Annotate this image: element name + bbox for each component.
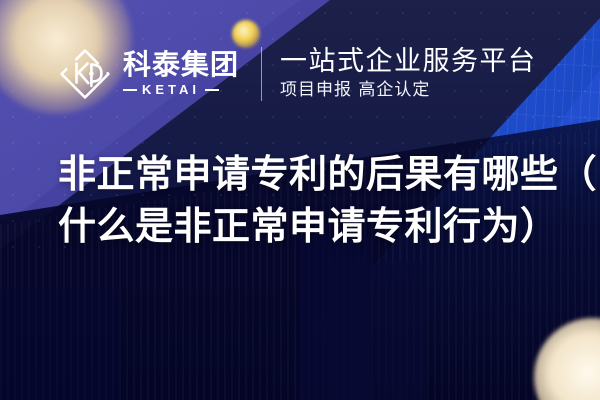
brand-lockup: 科泰集团 KETAI	[58, 47, 239, 101]
page-title-line-1: 非正常申请专利的后果有哪些（	[58, 148, 568, 200]
brand-name-cn: 科泰集团	[123, 51, 239, 79]
brand-dash-right-icon	[205, 89, 219, 92]
tagline-sub: 项目申报 高企认定	[280, 81, 537, 100]
brand-text-block: 科泰集团 KETAI	[123, 51, 239, 98]
skyline-building	[330, 262, 426, 400]
ketai-diamond-monogram-logo-icon	[58, 47, 112, 101]
header-vertical-divider	[261, 47, 262, 101]
tagline-main: 一站式企业服务平台	[280, 48, 537, 76]
page-title-line-2: 什么是非正常申请专利行为）	[58, 200, 568, 252]
brand-name-en: KETAI	[142, 82, 200, 97]
banner-image: 科泰集团 KETAI 一站式企业服务平台 项目申报 高企认定 非正常申请专利的后…	[0, 0, 600, 400]
tagline-block: 一站式企业服务平台 项目申报 高企认定	[280, 48, 537, 99]
skyline-building	[0, 290, 120, 400]
brand-dash-left-icon	[123, 89, 137, 92]
banner-header: 科泰集团 KETAI 一站式企业服务平台 项目申报 高企认定	[0, 38, 600, 110]
brand-name-en-row: KETAI	[123, 83, 239, 98]
page-title: 非正常申请专利的后果有哪些（ 什么是非正常申请专利行为）	[58, 148, 568, 252]
